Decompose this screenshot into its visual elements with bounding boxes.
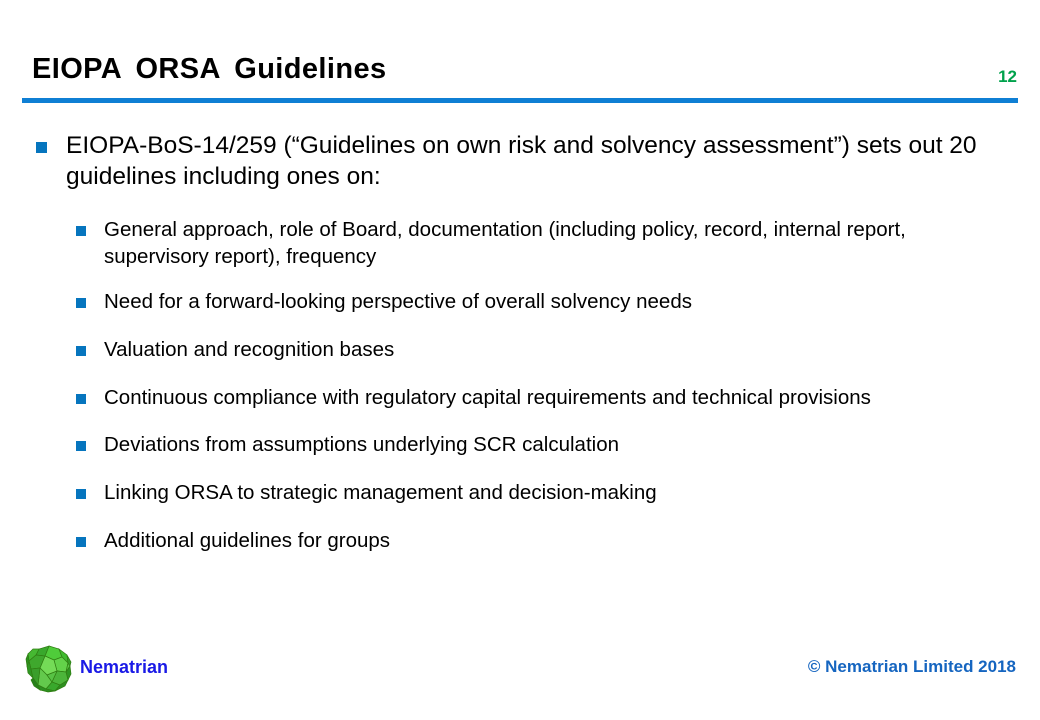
square-bullet-icon	[76, 298, 86, 308]
slide-header: EIOPA ORSA Guidelines 12	[0, 0, 1040, 104]
square-bullet-icon	[76, 537, 86, 547]
list-item: Deviations from assumptions underlying S…	[0, 431, 1040, 458]
slide-body: EIOPA-BoS-14/259 (“Guidelines on own ris…	[0, 104, 1040, 554]
page-title: EIOPA ORSA Guidelines	[32, 55, 387, 84]
slide-footer: Nematrian © Nematrian Limited 2018	[0, 630, 1040, 720]
square-bullet-icon	[76, 346, 86, 356]
square-bullet-icon	[36, 142, 47, 153]
polyhedron-sphere-logo-icon	[24, 644, 74, 694]
list-item: Additional guidelines for groups	[0, 527, 1040, 554]
square-bullet-icon	[76, 441, 86, 451]
copyright-notice: © Nematrian Limited 2018	[808, 658, 1016, 675]
list-item: General approach, role of Board, documen…	[0, 216, 1040, 270]
bullet-text: Additional guidelines for groups	[104, 529, 390, 552]
bullet-text: Need for a forward-looking perspective o…	[104, 290, 692, 313]
list-item: Continuous compliance with regulatory ca…	[0, 384, 1040, 411]
bullet-text: Continuous compliance with regulatory ca…	[104, 386, 871, 409]
list-item: Linking ORSA to strategic management and…	[0, 479, 1040, 506]
sub-bullet-list: General approach, role of Board, documen…	[0, 216, 1040, 554]
bullet-text: EIOPA-BoS-14/259 (“Guidelines on own ris…	[66, 132, 977, 190]
bullet-text: General approach, role of Board, documen…	[104, 218, 906, 268]
bullet-text: Linking ORSA to strategic management and…	[104, 481, 657, 504]
header-divider-rule	[22, 98, 1018, 103]
page-number: 12	[998, 68, 1017, 85]
square-bullet-icon	[76, 226, 86, 236]
brand-name: Nematrian	[80, 658, 168, 676]
square-bullet-icon	[76, 489, 86, 499]
bullet-text: Deviations from assumptions underlying S…	[104, 433, 619, 456]
list-item: Need for a forward-looking perspective o…	[0, 288, 1040, 315]
square-bullet-icon	[76, 394, 86, 404]
list-item: EIOPA-BoS-14/259 (“Guidelines on own ris…	[0, 130, 1040, 192]
bullet-text: Valuation and recognition bases	[104, 338, 394, 361]
list-item: Valuation and recognition bases	[0, 336, 1040, 363]
